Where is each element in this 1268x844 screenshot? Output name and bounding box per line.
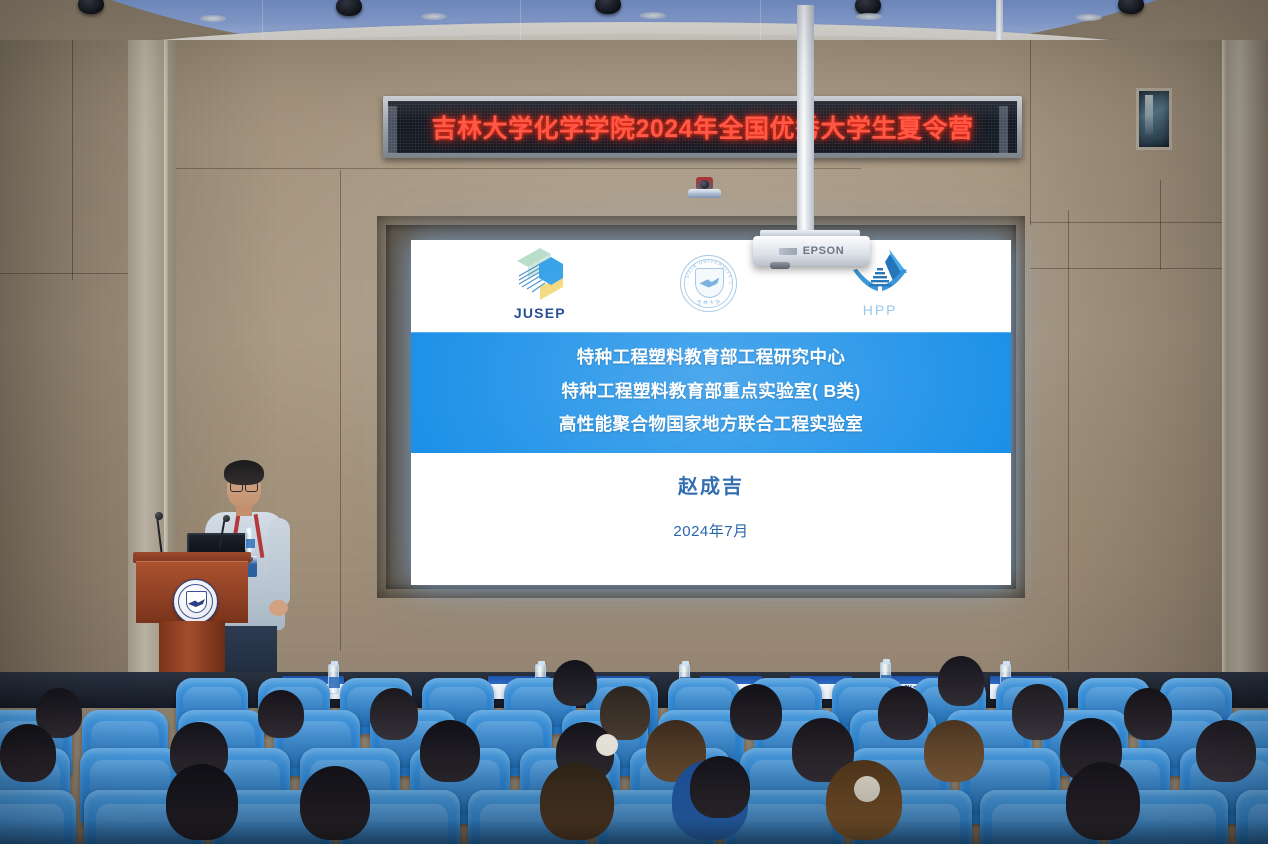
lectern-university-seal-icon <box>173 579 218 624</box>
bottle-label <box>246 539 255 548</box>
auditorium-scene: 吉林大学化学学院2024年全国优秀大学生夏令营 <box>0 0 1268 844</box>
audience-head <box>1124 688 1172 740</box>
ceiling-spotlight-icon <box>1118 0 1144 14</box>
led-reflection-bar <box>999 106 1008 153</box>
svg-text:JILIN UNIVERSITY CHINA: JILIN UNIVERSITY CHINA <box>681 256 733 286</box>
projector-lens-icon <box>770 262 790 269</box>
audience-head <box>0 724 56 782</box>
led-glare <box>388 101 1017 121</box>
camera-base <box>688 189 721 198</box>
slide-footer: 赵成吉 2024年7月 <box>411 453 1011 558</box>
audience-head <box>938 656 984 706</box>
lectern-front-panel <box>136 561 248 623</box>
audience-head <box>258 690 304 738</box>
screen-recess: JUSEP JILIN UNIVERSITY CHINA 吉 林 大 <box>377 216 1025 598</box>
microphone-icon <box>155 512 163 520</box>
audience-head <box>690 756 750 818</box>
hpp-label: HPP <box>863 302 898 318</box>
podium-microphone-icon <box>223 515 230 522</box>
slide-title-line-2: 特种工程塑料教育部重点实验室( B类) <box>411 375 1011 409</box>
audience-head <box>924 720 984 782</box>
audience-head <box>1196 720 1256 782</box>
ceiling-seam <box>262 0 263 44</box>
audience-head <box>1012 684 1064 740</box>
ptz-camera-icon <box>688 177 721 199</box>
downlight-icon <box>1076 14 1102 21</box>
audience-area <box>0 640 1268 844</box>
camera-lens-icon <box>700 180 709 189</box>
speaker-arm <box>268 518 290 608</box>
slide-logo-row: JUSEP JILIN UNIVERSITY CHINA 吉 林 大 <box>411 240 1011 332</box>
downlight-icon <box>421 13 447 20</box>
slide-date: 2024年7月 <box>673 520 748 541</box>
foreground-shade <box>0 820 1268 844</box>
audience-head <box>370 688 418 740</box>
audience-head <box>553 660 597 706</box>
seal-shield <box>695 268 724 298</box>
jilin-university-seal-icon: JILIN UNIVERSITY CHINA 吉 林 大 学 <box>680 255 737 312</box>
ceiling-spotlight-icon <box>336 0 362 16</box>
downlight-icon <box>200 15 226 22</box>
projector-brand-label: EPSON <box>803 245 845 257</box>
audience-head <box>600 686 650 740</box>
screen-frame: JUSEP JILIN UNIVERSITY CHINA 吉 林 大 <box>386 225 1016 589</box>
audience-hair-bun <box>854 776 880 802</box>
logo-jusep: JUSEP <box>511 246 569 321</box>
lectern-seal-bird-icon <box>188 599 205 607</box>
svg-text:吉 林 大 学: 吉 林 大 学 <box>697 299 720 306</box>
slide-title-line-1: 特种工程塑料教育部工程研究中心 <box>411 341 1011 375</box>
slide-title-band: 特种工程塑料教育部工程研究中心 特种工程塑料教育部重点实验室( B类) 高性能聚… <box>411 332 1011 453</box>
jusep-label: JUSEP <box>514 305 566 321</box>
audience-head <box>730 684 782 740</box>
projector-mount-pole <box>797 5 814 233</box>
ceiling-seam <box>760 0 761 44</box>
projection-screen: JUSEP JILIN UNIVERSITY CHINA 吉 林 大 <box>411 240 1011 585</box>
eyeglasses-icon <box>230 482 258 490</box>
downlight-icon <box>640 12 666 19</box>
lectern-seal-shield <box>186 591 207 613</box>
logo-university-seal: JILIN UNIVERSITY CHINA 吉 林 大 学 <box>680 255 737 312</box>
projector-vent <box>779 248 797 255</box>
led-screen: 吉林大学化学学院2024年全国优秀大学生夏令营 <box>388 101 1017 153</box>
led-banner: 吉林大学化学学院2024年全国优秀大学生夏令营 <box>383 96 1022 158</box>
audience-head <box>420 720 480 782</box>
water-bottle <box>245 527 254 553</box>
slide-title-line-3: 高性能聚合物国家地方联合工程实验室 <box>411 408 1011 442</box>
audience-hair-bun <box>596 734 618 756</box>
ceiling-spotlight-icon <box>78 0 104 14</box>
jusep-hexagon-icon <box>511 246 569 302</box>
seal-bird-icon <box>699 278 719 288</box>
slide-presenter-name: 赵成吉 <box>678 470 744 499</box>
ceiling-seam <box>520 0 521 44</box>
downlight-icon <box>856 13 882 20</box>
speaker-hand <box>269 600 288 616</box>
led-reflection-bar <box>388 106 397 153</box>
audience-head <box>878 686 928 740</box>
